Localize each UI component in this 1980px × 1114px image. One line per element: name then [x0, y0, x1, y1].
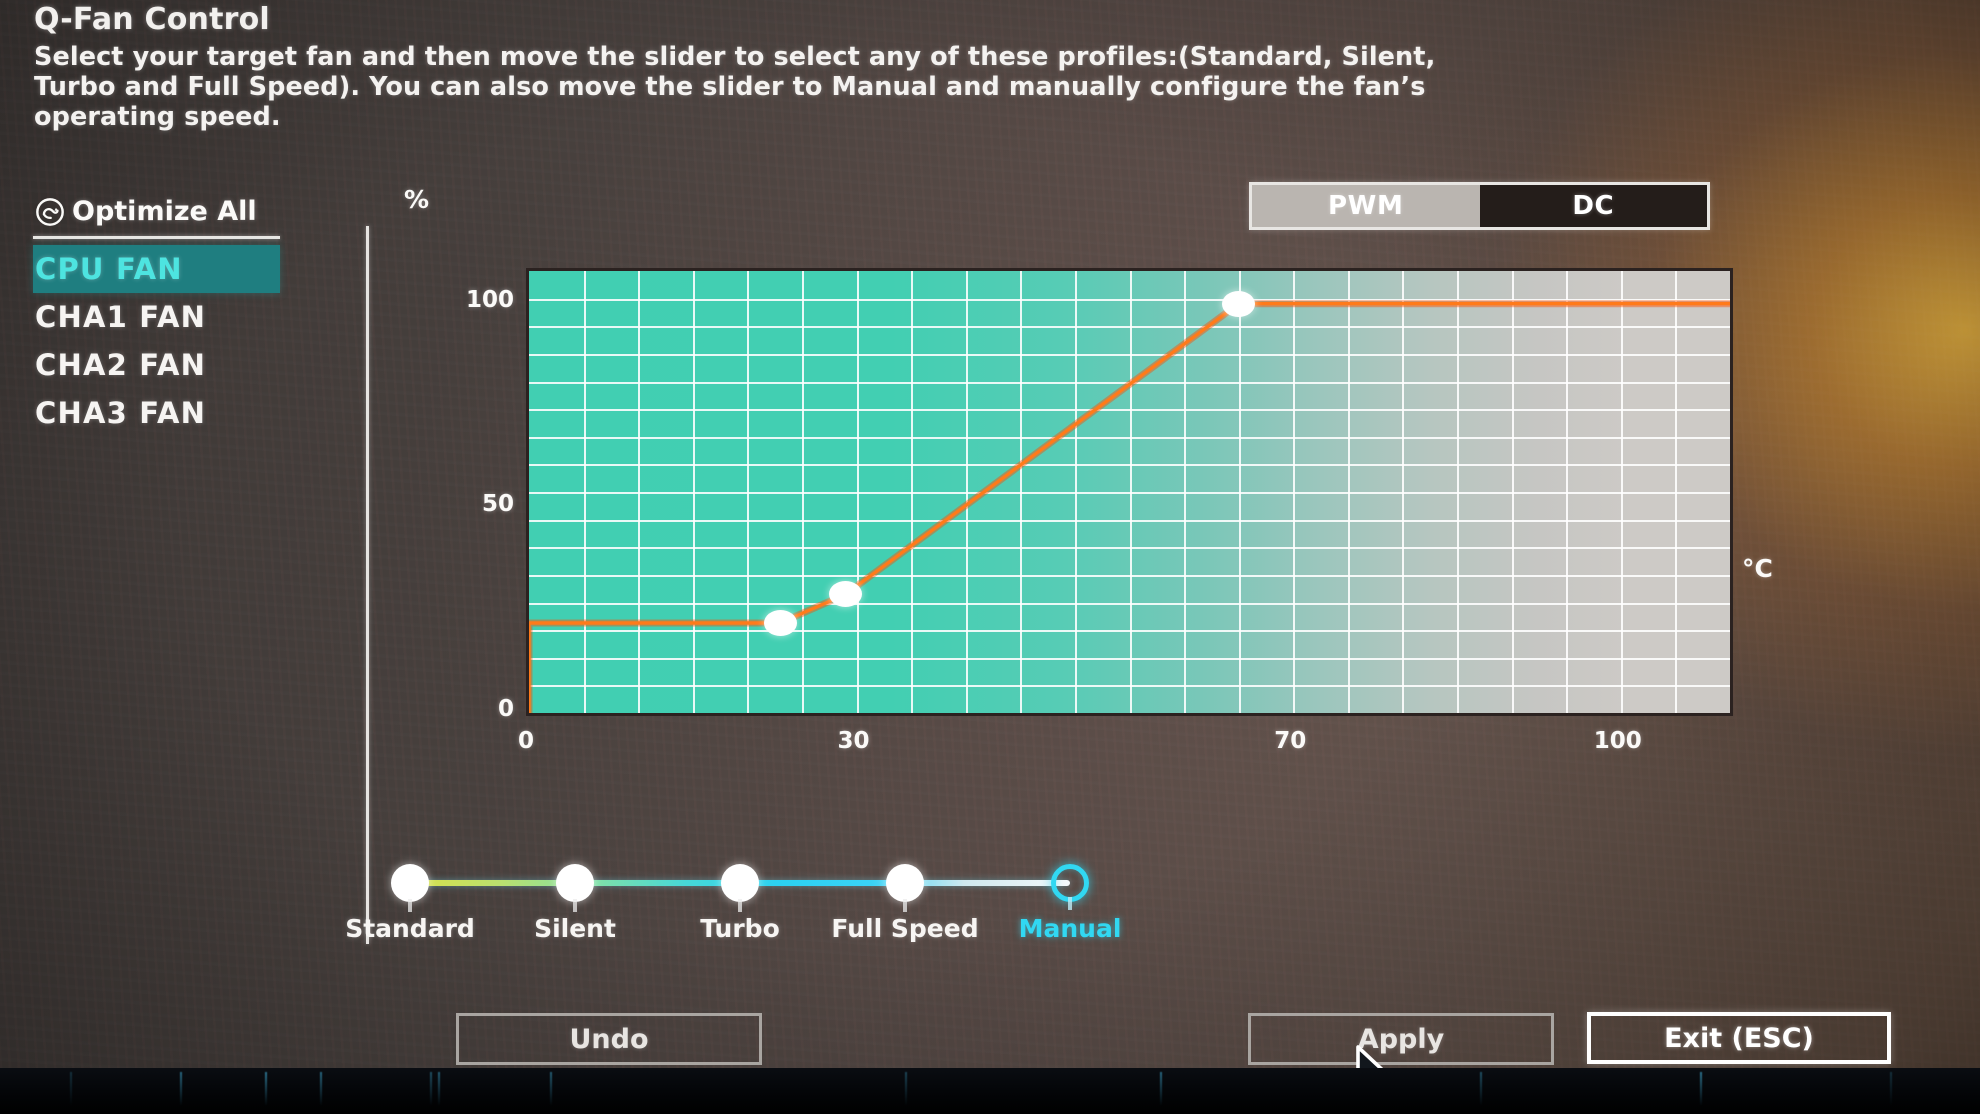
- x-tick-label: 100: [1594, 728, 1642, 754]
- y-tick-label: 0: [498, 696, 514, 722]
- slider-tick: [738, 899, 742, 912]
- profile-slider[interactable]: StandardSilentTurboFull SpeedManual: [390, 856, 1130, 948]
- undo-button[interactable]: Undo: [456, 1013, 762, 1065]
- slider-knob-standard[interactable]: [391, 864, 429, 902]
- slider-tick: [1068, 897, 1072, 910]
- fan-item-cpu-fan[interactable]: CPU FAN: [33, 245, 280, 293]
- light-streak: [70, 1072, 72, 1106]
- x-axis-unit-label: °C: [1742, 554, 1773, 583]
- slider-tick: [903, 899, 907, 912]
- slider-label-full-speed[interactable]: Full Speed: [831, 914, 978, 943]
- page-title: Q-Fan Control: [34, 2, 1894, 37]
- desk-strip: [0, 1068, 1980, 1114]
- slider-knob-full-speed[interactable]: [886, 864, 924, 902]
- slider-knob-silent[interactable]: [556, 864, 594, 902]
- light-streak: [430, 1072, 432, 1106]
- fan-item-label: CHA2 FAN: [35, 348, 206, 382]
- light-streak: [438, 1072, 440, 1106]
- vertical-divider: [366, 226, 369, 944]
- light-streak: [265, 1072, 267, 1106]
- screen-photo: Q-Fan Control Select your target fan and…: [0, 0, 1980, 1114]
- light-streak: [1700, 1072, 1702, 1106]
- sidebar-divider: [33, 236, 280, 239]
- light-streak: [320, 1072, 322, 1106]
- curve-point-handle[interactable]: [764, 610, 797, 636]
- fan-item-cha1-fan[interactable]: CHA1 FAN: [33, 293, 280, 341]
- light-streak: [1890, 1072, 1892, 1106]
- fan-item-label: CPU FAN: [35, 252, 183, 286]
- fan-list: CPU FANCHA1 FANCHA2 FANCHA3 FAN: [33, 245, 333, 437]
- fan-item-cha3-fan[interactable]: CHA3 FAN: [33, 389, 280, 437]
- fan-curve-chart: % °C 050100 03070100: [430, 190, 1770, 750]
- light-streak: [180, 1072, 182, 1106]
- y-tick-label: 50: [482, 491, 514, 517]
- slider-label-turbo[interactable]: Turbo: [700, 914, 780, 943]
- y-tick-label: 100: [466, 287, 514, 313]
- exit-button[interactable]: Exit (ESC): [1587, 1012, 1891, 1064]
- apply-button[interactable]: Apply: [1248, 1013, 1554, 1065]
- fan-circle-icon: [35, 197, 65, 227]
- plot-area[interactable]: [526, 268, 1733, 716]
- slider-label-manual[interactable]: Manual: [1019, 914, 1122, 943]
- fan-item-label: CHA1 FAN: [35, 300, 206, 334]
- light-streak: [905, 1072, 907, 1106]
- fan-sidebar: Optimize All CPU FANCHA1 FANCHA2 FANCHA3…: [33, 196, 333, 437]
- optimize-all-label: Optimize All: [72, 196, 257, 227]
- light-streak: [550, 1072, 552, 1106]
- x-tick-label: 0: [518, 728, 534, 754]
- slider-knob-turbo[interactable]: [721, 864, 759, 902]
- page-description: Select your target fan and then move the…: [34, 43, 1474, 132]
- light-streak: [1480, 1072, 1482, 1106]
- slider-label-silent[interactable]: Silent: [534, 914, 616, 943]
- slider-knob-manual[interactable]: [1051, 864, 1089, 902]
- header: Q-Fan Control Select your target fan and…: [34, 2, 1894, 132]
- light-streak: [1160, 1072, 1162, 1106]
- fan-curve-line: [529, 271, 1730, 713]
- fan-item-cha2-fan[interactable]: CHA2 FAN: [33, 341, 280, 389]
- fan-item-label: CHA3 FAN: [35, 396, 206, 430]
- slider-tick: [408, 899, 412, 912]
- y-axis-unit-label: %: [404, 185, 429, 214]
- slider-label-standard[interactable]: Standard: [345, 914, 475, 943]
- x-tick-label: 30: [838, 728, 870, 754]
- optimize-all-button[interactable]: Optimize All: [33, 196, 333, 227]
- x-tick-label: 70: [1274, 728, 1306, 754]
- curve-point-handle[interactable]: [1222, 291, 1255, 317]
- slider-tick: [573, 899, 577, 912]
